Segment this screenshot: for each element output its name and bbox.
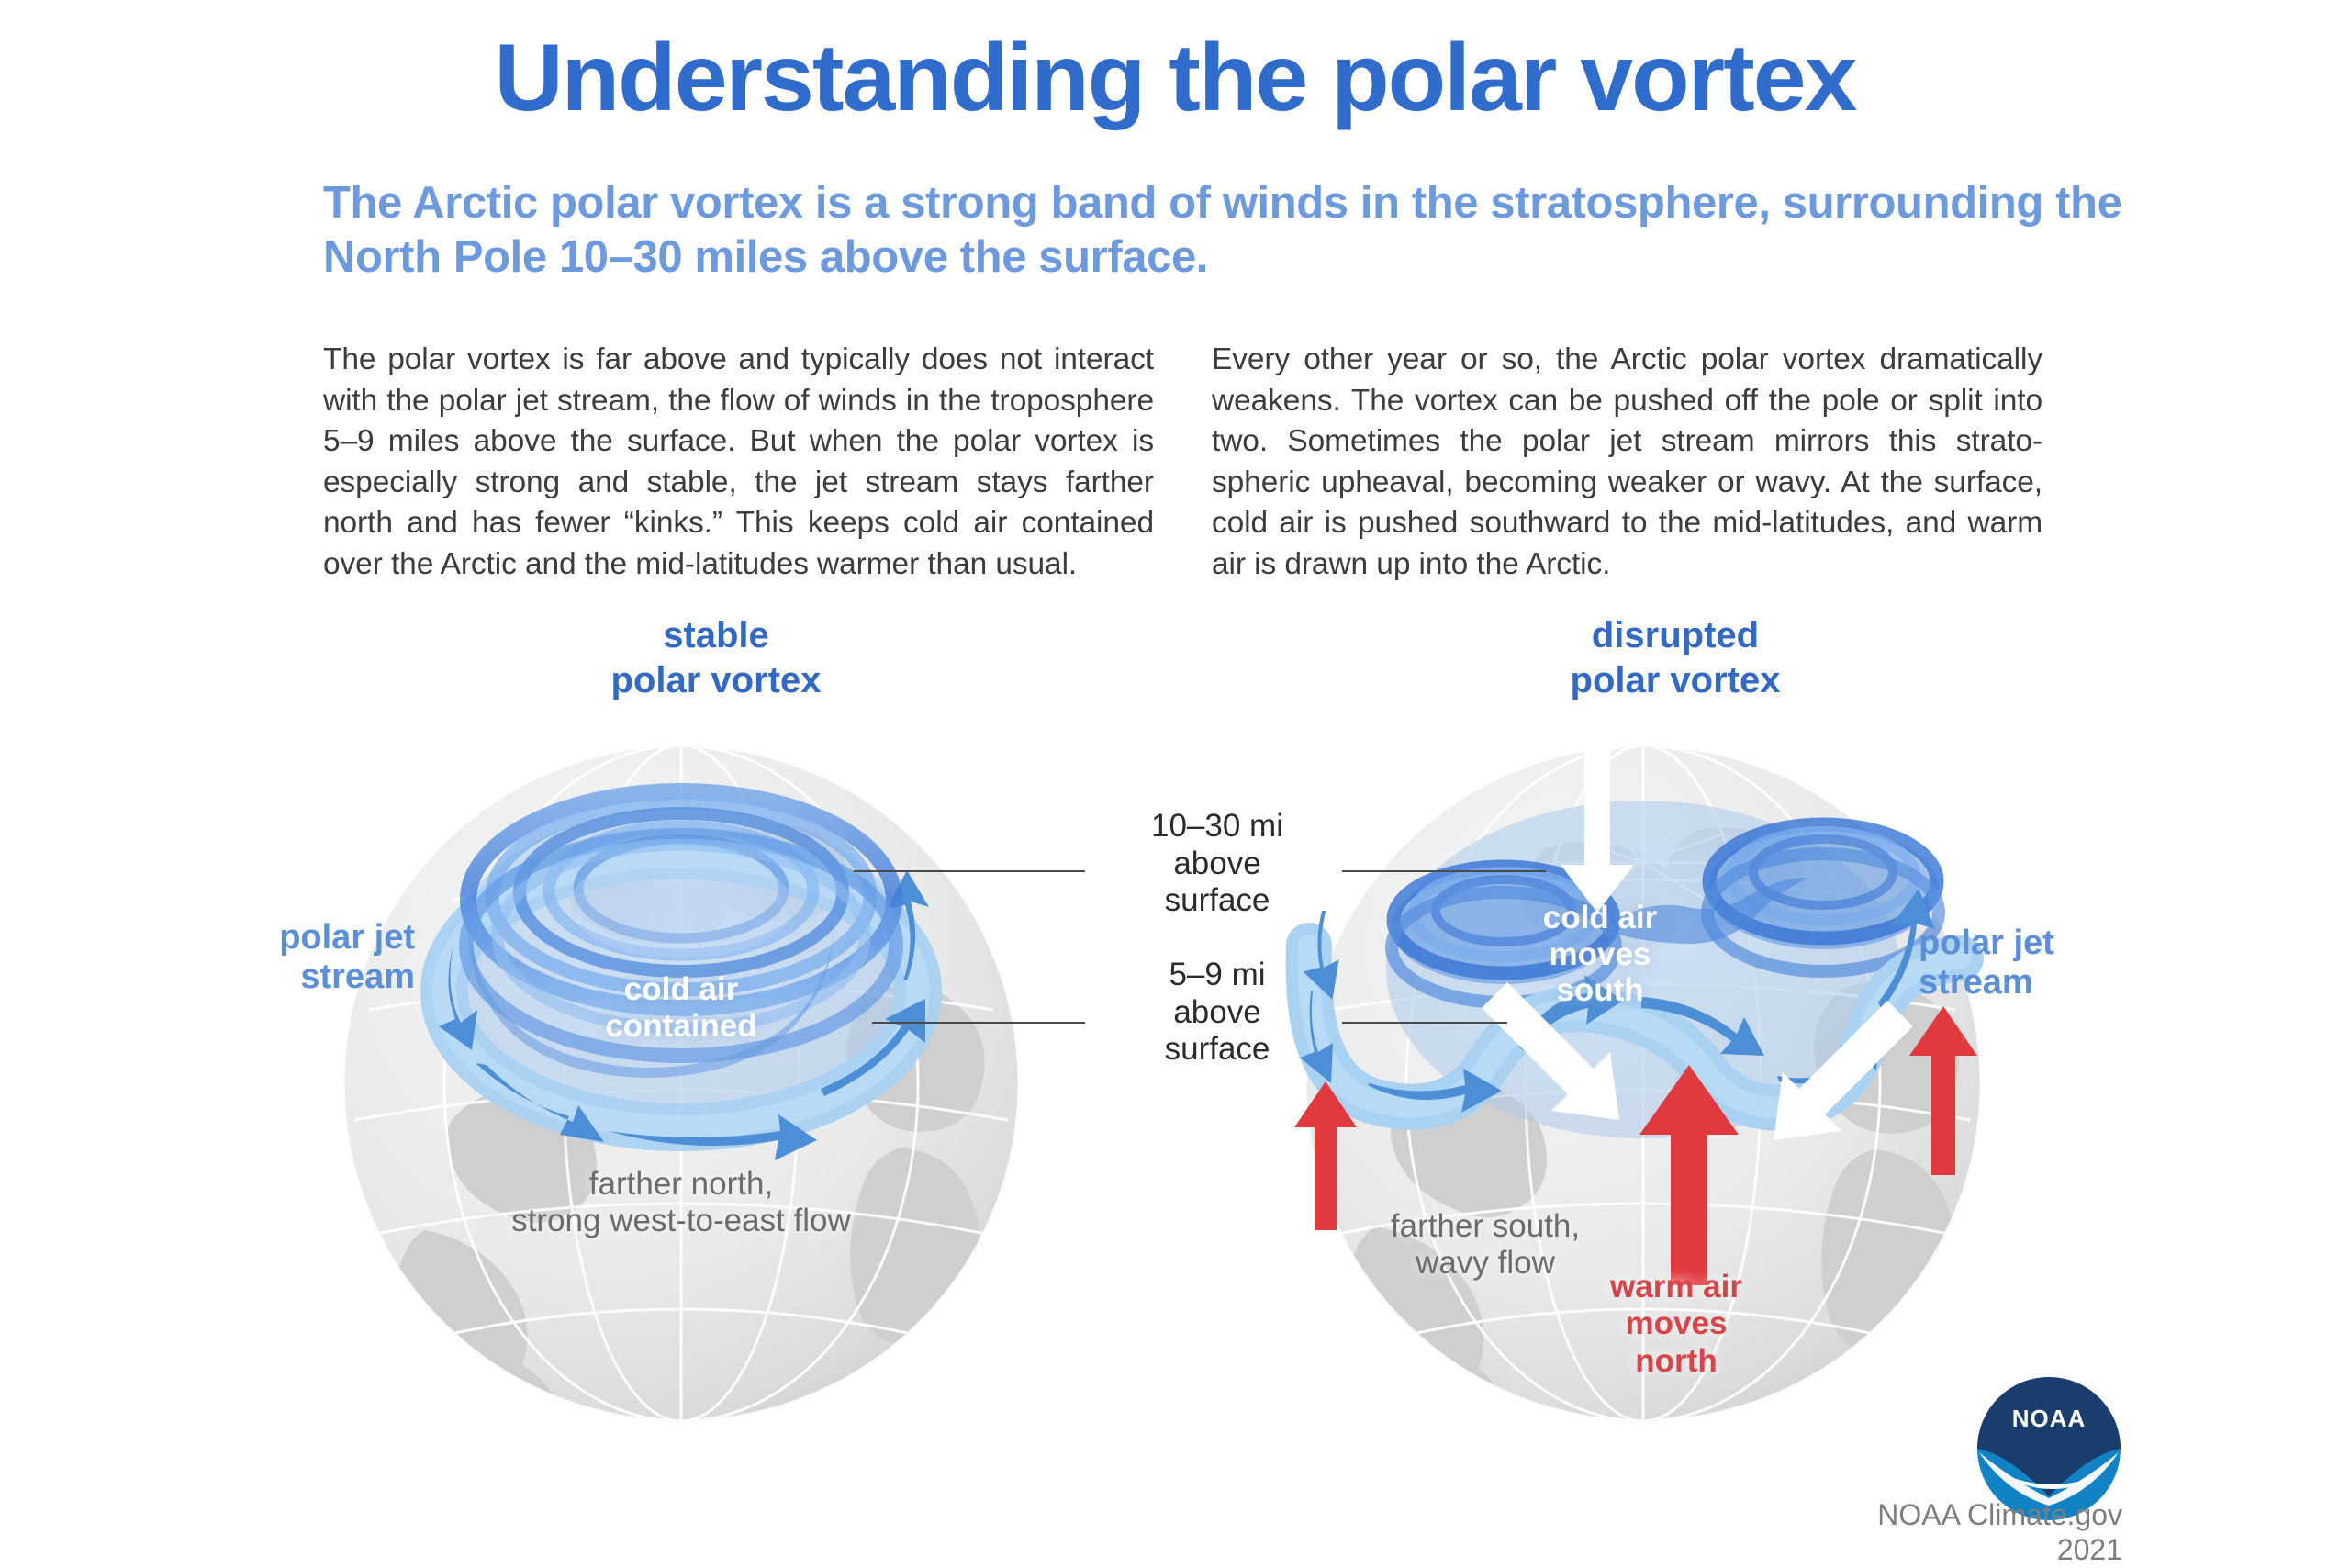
globe-stable-vortex: polar jet stream cold air contained fart…	[314, 716, 1048, 1450]
page-title: Understanding the polar vortex	[0, 28, 2350, 129]
leader-line-stratosphere-right	[1342, 870, 1546, 872]
stratosphere-line1: 10–30 mi	[1098, 808, 1337, 846]
troposphere-line1: 5–9 mi	[1098, 957, 1337, 994]
intro-paragraph-left: The polar vortex is far above and typica…	[323, 340, 1154, 585]
stratosphere-line2: above	[1098, 846, 1337, 883]
panel-heading-disrupted-line2: polar vortex	[1437, 658, 1914, 703]
credit-line-source: NOAA Climate.gov	[1744, 1498, 2122, 1533]
globe-disrupted-illustration	[1276, 716, 2010, 1450]
leader-line-troposphere-left	[872, 1022, 1085, 1024]
panel-heading-disrupted: disrupted polar vortex	[1437, 613, 1914, 703]
callout-troposphere-altitude: 5–9 mi above surface	[1098, 957, 1337, 1069]
globe-disrupted-vortex: polar jet stream cold air moves south fa…	[1276, 716, 2010, 1450]
leader-line-stratosphere-left	[854, 870, 1085, 872]
troposphere-line2: above	[1098, 994, 1337, 1032]
panel-heading-stable-line2: polar vortex	[477, 658, 955, 703]
panel-heading-disrupted-line1: disrupted	[1437, 613, 1914, 658]
page-subtitle: The Arctic polar vortex is a strong band…	[323, 176, 2122, 286]
panel-heading-stable: stable polar vortex	[477, 613, 955, 703]
intro-paragraph-right: Every other year or so, the Arctic polar…	[1212, 340, 2042, 585]
panel-heading-stable-line1: stable	[477, 613, 955, 658]
noaa-logo-text: NOAA	[2012, 1405, 2087, 1432]
credit-block: NOAA Climate.gov 2021	[1744, 1498, 2122, 1568]
globe-stable-illustration	[314, 716, 1048, 1450]
callout-stratosphere-altitude: 10–30 mi above surface	[1098, 808, 1337, 920]
troposphere-line3: surface	[1098, 1031, 1337, 1069]
leader-line-troposphere-right	[1342, 1022, 1507, 1024]
vortex-lobe-right	[1707, 824, 1939, 971]
stratosphere-line3: surface	[1098, 882, 1337, 920]
credit-line-year: 2021	[1744, 1533, 2122, 1568]
